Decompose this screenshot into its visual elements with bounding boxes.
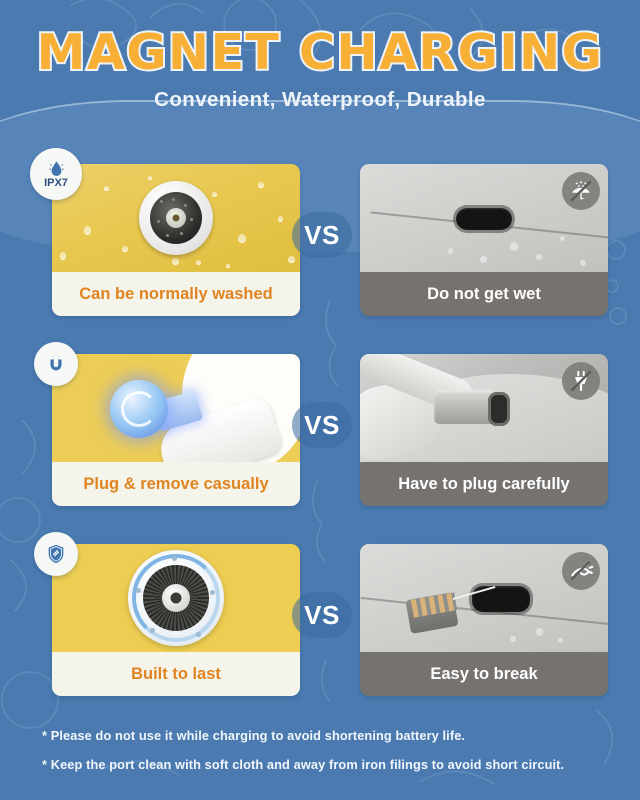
shield-icon — [45, 543, 67, 565]
caption-good: Can be normally washed — [52, 272, 300, 316]
comparison-rows: IPX7 — [0, 150, 640, 720]
comparison-row: Plug & remove casually VS — [0, 340, 640, 522]
caption-good: Plug & remove casually — [52, 462, 300, 506]
caption-bad: Easy to break — [360, 652, 608, 696]
photo-magnet-port-wet — [52, 164, 300, 272]
footnotes: * Please do not use it while charging to… — [0, 728, 640, 786]
photo-circular-port — [52, 544, 300, 652]
photo-usb-port-wet — [360, 164, 608, 272]
card-good: Built to last — [52, 544, 300, 696]
page-subtitle: Convenient, Waterproof, Durable — [0, 88, 640, 112]
magnet-icon — [45, 353, 67, 375]
no-rain-icon — [562, 172, 600, 210]
shield-badge — [34, 532, 78, 576]
photo-usb-plug — [360, 354, 608, 462]
water-drop-icon — [48, 160, 65, 177]
ipx7-badge: IPX7 — [30, 148, 82, 200]
no-plug-icon — [562, 362, 600, 400]
caption-bad: Do not get wet — [360, 272, 608, 316]
magnet-badge — [34, 342, 78, 386]
magnet-port — [139, 181, 213, 255]
vs-badge: VS — [292, 212, 352, 258]
card-bad: Do not get wet — [360, 164, 608, 316]
comparison-row: IPX7 — [0, 150, 640, 332]
page-title: MAGNET CHARGING — [0, 24, 640, 81]
card-bad: Easy to break — [360, 544, 608, 696]
caption-good: Built to last — [52, 652, 300, 696]
footnote-1: * Please do not use it while charging to… — [42, 728, 640, 743]
footnote-2: * Keep the port clean with soft cloth an… — [42, 757, 640, 772]
comparison-row: Built to last VS — [0, 530, 640, 712]
photo-magnetic-snap — [52, 354, 300, 462]
card-bad: Have to plug carefully — [360, 354, 608, 506]
vs-badge: VS — [292, 402, 352, 448]
broken-connector-icon — [562, 552, 600, 590]
header: MAGNET CHARGING Convenient, Waterproof, … — [0, 0, 640, 132]
vs-badge: VS — [292, 592, 352, 638]
card-good: Can be normally washed — [52, 164, 300, 316]
infographic-page: MAGNET CHARGING Convenient, Waterproof, … — [0, 0, 640, 800]
photo-broken-connector — [360, 544, 608, 652]
card-good: Plug & remove casually — [52, 354, 300, 506]
caption-bad: Have to plug carefully — [360, 462, 608, 506]
charging-port — [128, 550, 224, 646]
ipx7-label: IPX7 — [44, 178, 68, 189]
